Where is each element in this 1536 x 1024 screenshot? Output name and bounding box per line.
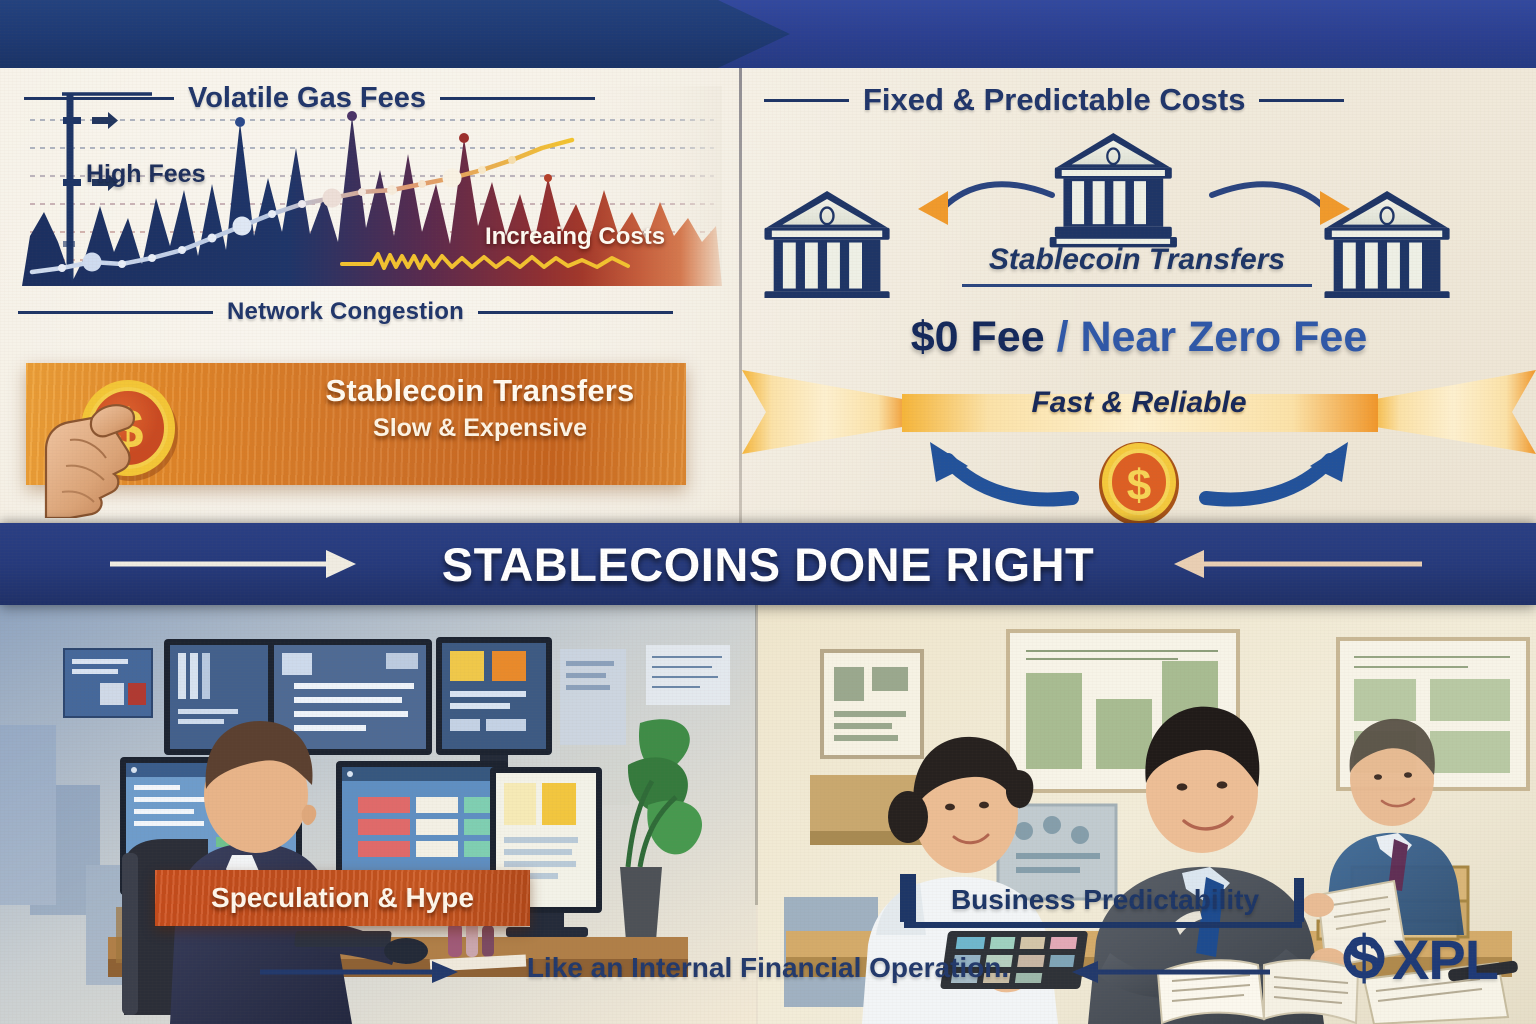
left-transfers-subtitle: Slow & Expensive	[280, 414, 680, 443]
stablecoin-transfers-text-group: Stablecoin Transfers Slow & Expensive	[280, 373, 680, 443]
plasma-transfers-label: Stablecoin Transfers	[922, 243, 1352, 277]
arrow-left-icon-blue	[930, 442, 1072, 499]
fee-headline-near-zero: / Near Zero Fee	[1057, 313, 1368, 361]
infographic-root: Traditional Networks PLASMA	[0, 0, 1536, 1024]
fee-headline: $0 Fee / Near Zero Fee	[742, 313, 1536, 362]
volatile-gas-fees-title: Volatile Gas Fees	[188, 82, 426, 115]
bank-icon-center	[1050, 133, 1177, 247]
title-rule-left	[24, 97, 174, 100]
network-congestion-title: Network Congestion	[227, 298, 464, 326]
fixed-costs-rule-left	[764, 99, 849, 102]
gas-fee-chart	[22, 86, 722, 296]
congestion-rule-right	[478, 311, 673, 314]
volatile-gas-fees-title-group: Volatile Gas Fees	[24, 82, 595, 115]
dollar-coin-icon: $	[1099, 442, 1179, 526]
fixed-costs-rule-right	[1259, 99, 1344, 102]
dollar-sign-logo-icon: $	[1338, 929, 1390, 991]
center-banner-title: STABLECOINS DONE RIGHT	[0, 523, 1536, 605]
fee-headline-zero: $0 Fee	[911, 313, 1045, 361]
increasing-costs-label: Increaing Costs	[485, 223, 665, 251]
chart-peak-markers	[235, 111, 552, 182]
bottom-caption: Like an Internal Financial Operation.	[0, 952, 1536, 984]
arrow-right-icon-blue	[1206, 442, 1348, 499]
fixed-costs-title-group: Fixed & Predictable Costs	[764, 82, 1344, 118]
plasma-panel: Fixed & Predictable Costs	[742, 68, 1536, 523]
hand-icon: $	[40, 368, 230, 518]
business-predictability-label: Business Predictability	[900, 872, 1310, 928]
fixed-costs-title: Fixed & Predictable Costs	[863, 82, 1245, 118]
arrow-right-icon	[1212, 184, 1350, 225]
bidirectional-arrows-with-coin: $	[742, 436, 1536, 526]
bottom-scene-divider	[755, 605, 758, 905]
title-rule-right	[440, 97, 595, 100]
hand-shape	[46, 405, 134, 518]
xpl-logo: $ XPL	[1338, 927, 1498, 992]
gas-fee-chart-svg	[22, 86, 722, 296]
header-band	[0, 0, 1536, 68]
network-congestion-title-group: Network Congestion	[18, 298, 673, 326]
bank-icon-left	[759, 191, 895, 298]
svg-text:$: $	[1127, 461, 1151, 510]
xpl-logo-text: XPL	[1392, 927, 1498, 992]
panel-divider	[739, 68, 742, 523]
arrow-left-icon	[918, 184, 1052, 225]
plasma-transfers-underline	[962, 284, 1312, 287]
traditional-networks-panel: High Fees Increaing Costs Volatile Gas F…	[0, 68, 739, 523]
left-transfers-title: Stablecoin Transfers	[280, 373, 680, 409]
chart-right-fade	[582, 86, 722, 286]
header-left-background-arrow	[0, 0, 790, 68]
congestion-rule-left	[18, 311, 213, 314]
speculation-hype-label: Speculation & Hype	[155, 870, 530, 926]
high-fees-label: High Fees	[86, 160, 205, 189]
fast-reliable-label: Fast & Reliable	[742, 386, 1536, 420]
monitor-top-right	[436, 637, 552, 765]
